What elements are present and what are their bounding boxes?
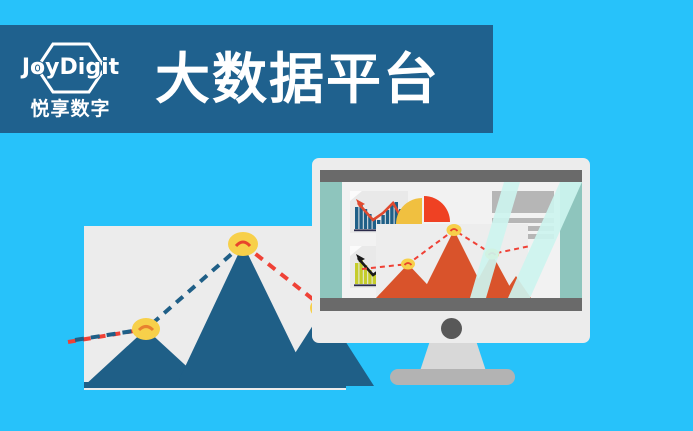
screen-strip-left [320, 182, 342, 298]
logo-wordmark: JoyDigit [22, 57, 119, 79]
brand-logo: JoyDigit 悦享数字 [8, 40, 133, 119]
screen-strip-right [560, 182, 582, 298]
illustration-canvas: JoyDigit 悦享数字 大数据平台 [0, 0, 693, 431]
screen-bottom-bar [320, 298, 582, 311]
orange-mountain-chart [376, 224, 528, 298]
document-image-block [492, 191, 554, 213]
monitor-screen [320, 182, 582, 298]
page-title: 大数据平台 [155, 52, 440, 107]
logo-subtitle: 悦享数字 [30, 100, 110, 119]
orange-mountain-graphic [368, 224, 528, 298]
logo-mark: JoyDigit [15, 40, 127, 96]
screen-top-bar [320, 170, 582, 182]
left-mountain-chart-panel [84, 226, 346, 390]
monitor-stand-base [390, 369, 515, 385]
document-line [492, 218, 554, 223]
pie-slice-red [424, 196, 450, 222]
desktop-monitor [312, 158, 590, 343]
monitor-stand-neck [420, 343, 486, 371]
header-banner: JoyDigit 悦享数字 大数据平台 [0, 25, 493, 133]
monitor-power-indicator [441, 318, 462, 339]
